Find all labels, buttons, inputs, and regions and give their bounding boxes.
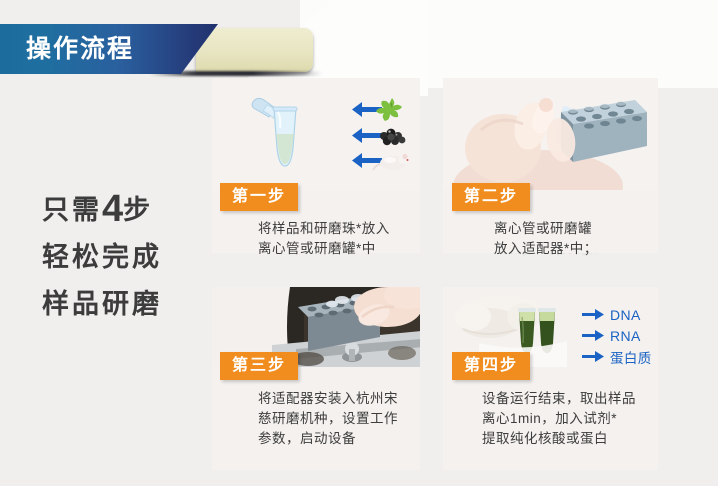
banner-cream-tab — [196, 28, 313, 72]
output-label-dna: DNA — [610, 307, 641, 323]
step-photo-1 — [212, 78, 420, 190]
tube-samples-illustration — [212, 78, 420, 190]
arrow-right-icon — [582, 330, 604, 341]
headline-line-3: 样品研磨 — [42, 281, 212, 328]
page-title: 操作流程 — [26, 32, 134, 66]
output-label-rna: RNA — [610, 328, 641, 344]
step-text-1: 将样品和研磨珠*放入 离心管或研磨罐*中 — [258, 219, 390, 259]
headline-block: 只需4步 轻松完成 样品研磨 — [42, 186, 212, 328]
arrow-right-icon — [582, 351, 604, 362]
output-row-protein: 蛋白质 — [582, 346, 652, 367]
step-badge-4: 第四步 — [452, 352, 530, 380]
output-label-protein: 蛋白质 — [610, 347, 652, 367]
step-badge-2: 第二步 — [452, 183, 530, 211]
step-text-3: 将适配器安装入杭州宋 慈研磨机种，设置工作 参数，启动设备 — [258, 389, 398, 449]
step-text-4: 设备运行结束，取出样品 离心1min，加入试剂* 提取纯化核酸或蛋白 — [482, 389, 636, 449]
output-row-rna: RNA — [582, 325, 652, 346]
headline-line-2: 轻松完成 — [42, 234, 212, 281]
step-photo-2 — [443, 78, 658, 190]
step-badge-1: 第一步 — [220, 183, 298, 211]
headline-line-1: 只需4步 — [42, 186, 212, 234]
page-root: 操作流程 只需4步 轻松完成 样品研磨 — [0, 0, 718, 486]
headline-number: 4 — [102, 188, 123, 230]
step-text-2: 离心管或研磨罐 放入适配器*中； — [494, 219, 598, 259]
header-banner: 操作流程 — [0, 24, 340, 74]
arrow-right-icon — [582, 309, 604, 320]
hand-adapter-illustration — [443, 78, 658, 190]
headline-suffix: 步 — [123, 195, 153, 225]
step-badge-3: 第三步 — [220, 352, 298, 380]
headline-prefix: 只需 — [42, 195, 102, 225]
output-legend: DNA RNA 蛋白质 — [582, 304, 652, 367]
output-row-dna: DNA — [582, 304, 652, 325]
